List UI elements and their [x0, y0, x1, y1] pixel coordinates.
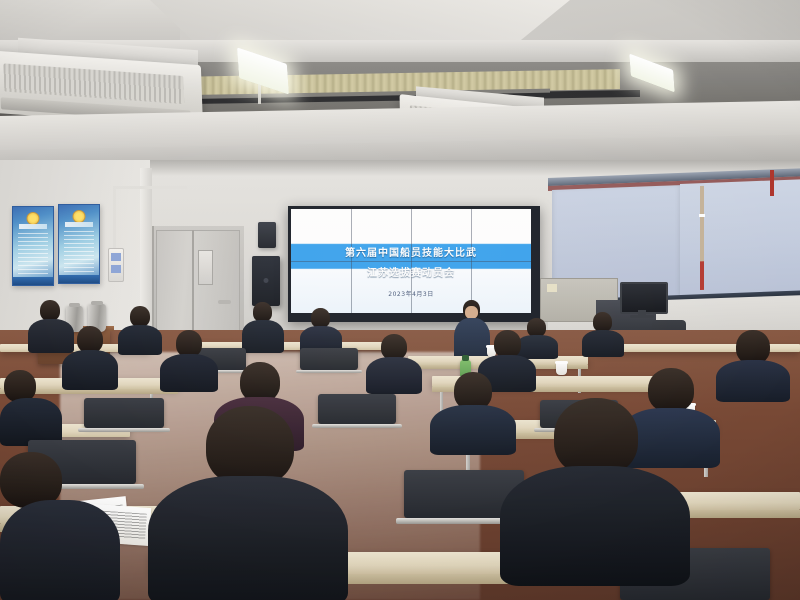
- control-panel-display-top: [111, 253, 121, 261]
- attendee-head: [593, 312, 612, 332]
- ac-grill-left: [3, 63, 184, 104]
- floor-standing-speaker: [252, 256, 280, 306]
- speaker-driver-icon: [264, 278, 269, 283]
- attendee: [582, 312, 624, 356]
- attendee: [118, 306, 162, 354]
- poster-text-lines: [18, 233, 48, 275]
- attendee-torso: [500, 466, 690, 586]
- poster-text-lines: [64, 231, 94, 273]
- attendee-head: [554, 398, 638, 476]
- window-blind-right[interactable]: [680, 179, 800, 302]
- paper-cup: [556, 362, 567, 375]
- red-standpipe: [770, 170, 774, 196]
- poster-title-bar: [65, 222, 93, 227]
- attendee-torso: [62, 350, 118, 390]
- cup-rim: [555, 361, 568, 364]
- attendee-head: [311, 308, 330, 328]
- attendee: [62, 326, 118, 388]
- attendee-foreground: [500, 398, 690, 578]
- slide-date: 2023年4月3日: [291, 289, 531, 298]
- attendee-torso: [716, 360, 790, 402]
- attendee-torso: [118, 325, 162, 355]
- attendee: [716, 330, 790, 400]
- slide-subtitle: 江苏选拔赛动员会: [291, 264, 531, 279]
- attendee-torso: [366, 357, 422, 394]
- bottle-cap: [462, 355, 469, 361]
- attendee-foreground: [0, 452, 120, 600]
- attendee: [0, 370, 62, 444]
- poster-footer: [59, 275, 99, 283]
- attendee-head: [130, 306, 150, 327]
- control-panel-display-bottom: [111, 265, 121, 273]
- cabinet-label-icon: [547, 284, 557, 292]
- poster-title-bar: [19, 224, 47, 229]
- attendee-head: [240, 362, 280, 402]
- attendee-torso: [0, 500, 120, 600]
- poster-footer: [13, 277, 53, 285]
- wall-poster-right: [58, 204, 100, 284]
- wall-poster-left: [12, 206, 54, 286]
- slide-title: 第六届中国船员技能大比武: [291, 244, 531, 259]
- wall-speaker: [258, 222, 276, 248]
- ceiling-mount-arm: [113, 186, 187, 189]
- wall-control-panel[interactable]: [108, 248, 124, 282]
- attendee-head: [206, 406, 294, 486]
- attendee: [366, 334, 422, 392]
- conference-chair[interactable]: [300, 348, 358, 370]
- attendee-head: [40, 300, 60, 321]
- attendee-torso: [148, 476, 348, 600]
- blind-cord-marker: [699, 214, 705, 217]
- chair-rail: [296, 370, 362, 373]
- ceiling-mount-pole: [113, 186, 116, 248]
- kettle-lid: [91, 301, 104, 305]
- attendee-head: [176, 330, 202, 357]
- attendee-foreground: [148, 406, 348, 600]
- attendee-torso: [242, 320, 284, 353]
- attendee-torso: [0, 398, 62, 446]
- attendee-head: [253, 302, 272, 322]
- attendee: [160, 330, 218, 390]
- attendee-head: [494, 330, 521, 358]
- panel-seam: [291, 261, 531, 262]
- attendee-torso: [160, 354, 218, 392]
- presentation-video-wall[interactable]: 第六届中国船员技能大比武 江苏选拔赛动员会 2023年4月3日: [288, 206, 540, 322]
- monitor-base: [630, 315, 654, 318]
- door-vision-panel: [198, 250, 213, 285]
- video-wall-display: 第六届中国船员技能大比武 江苏选拔赛动员会 2023年4月3日: [291, 209, 531, 313]
- conference-room-photo: 第六届中国船员技能大比武 江苏选拔赛动员会 2023年4月3日: [0, 0, 800, 600]
- attendee-head: [77, 326, 103, 353]
- attendee: [242, 302, 284, 352]
- door-leaf-divider: [192, 230, 194, 344]
- door-handle[interactable]: [218, 300, 231, 304]
- attendee-torso: [582, 330, 624, 357]
- attendee-head: [736, 330, 770, 364]
- classroom-door[interactable]: [156, 230, 240, 346]
- blind-pull-cord[interactable]: [700, 186, 704, 290]
